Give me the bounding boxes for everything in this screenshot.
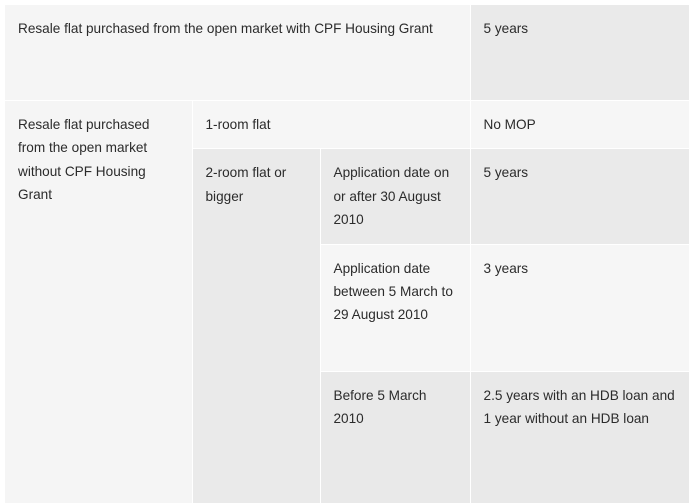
mop-after-30-august-2010-text: 5 years — [484, 161, 677, 184]
cell-application-date-between-march-august-2010: Application date between 5 March to 29 A… — [320, 244, 470, 371]
cell-purchase-type-with-grant: Resale flat purchased from the open mark… — [5, 5, 470, 101]
cell-flat-type-two-room-or-bigger: 2-room flat or bigger — [192, 149, 320, 503]
cell-purchase-type-without-grant: Resale flat purchased from the open mark… — [5, 101, 192, 504]
flat-type-one-room-text: 1-room flat — [206, 113, 458, 136]
application-date-after-30-august-2010-text: Application date on or after 30 August 2… — [334, 161, 458, 231]
cell-mop-after-30-august-2010: 5 years — [470, 149, 689, 244]
flat-type-two-room-or-bigger-text: 2-room flat or bigger — [206, 161, 308, 208]
purchase-type-without-grant-text: Resale flat purchased from the open mark… — [18, 113, 180, 207]
mop-one-room-text: No MOP — [484, 113, 677, 136]
mop-with-grant-text: 5 years — [484, 17, 677, 40]
cell-mop-before-5-march-2010: 2.5 years with an HDB loan and 1 year wi… — [470, 371, 689, 503]
cell-mop-with-grant: 5 years — [470, 5, 689, 101]
mop-between-march-august-2010-text: 3 years — [484, 257, 677, 280]
minimum-occupation-period-table: Resale flat purchased from the open mark… — [5, 5, 689, 504]
cell-flat-type-one-room: 1-room flat — [192, 101, 470, 149]
cell-application-date-after-30-august-2010: Application date on or after 30 August 2… — [320, 149, 470, 244]
purchase-type-with-grant-text: Resale flat purchased from the open mark… — [18, 17, 458, 40]
table-row: Resale flat purchased from the open mark… — [5, 101, 689, 149]
table-row: Resale flat purchased from the open mark… — [5, 5, 689, 101]
cell-mop-between-march-august-2010: 3 years — [470, 244, 689, 371]
mop-before-5-march-2010-text: 2.5 years with an HDB loan and 1 year wi… — [484, 384, 677, 431]
mop-table-container: Resale flat purchased from the open mark… — [5, 5, 689, 455]
application-date-before-5-march-2010-text: Before 5 March 2010 — [334, 384, 458, 431]
cell-mop-one-room: No MOP — [470, 101, 689, 149]
cell-application-date-before-5-march-2010: Before 5 March 2010 — [320, 371, 470, 503]
application-date-between-march-august-2010-text: Application date between 5 March to 29 A… — [334, 257, 458, 327]
